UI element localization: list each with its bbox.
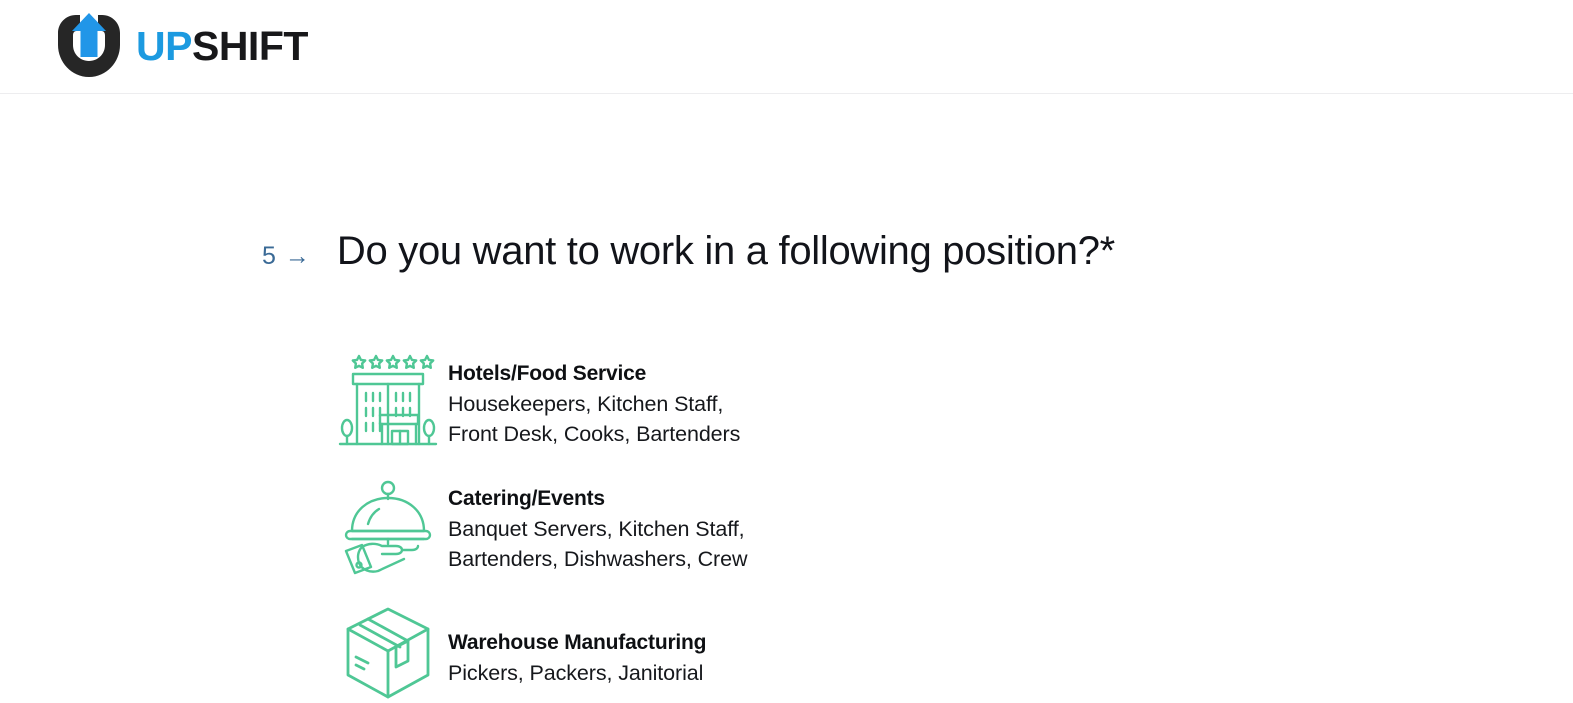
option-description-line: Housekeepers, Kitchen Staff, [448, 390, 740, 420]
form-body: 5 → Do you want to work in a following p… [0, 94, 1573, 669]
hotel-building-stars-icon [338, 352, 438, 454]
question-text: Do you want to work in a following posit… [337, 231, 1115, 271]
option-warehouse-manufacturing[interactable]: Warehouse Manufacturing Pickers, Packers… [338, 601, 747, 703]
brand-wordmark: UPSHIFT [136, 26, 308, 67]
question-number: 5 [262, 244, 276, 269]
option-description: Housekeepers, Kitchen Staff, Front Desk,… [448, 390, 740, 449]
upshift-up-arrow-logo-icon [52, 9, 126, 83]
serving-dome-hand-icon [338, 477, 438, 579]
position-options-list: Hotels/Food Service Housekeepers, Kitche… [338, 352, 747, 703]
option-text-block: Catering/Events Banquet Servers, Kitchen… [438, 477, 747, 575]
brand-wordmark-shift: SHIFT [192, 23, 308, 69]
option-description-line: Banquet Servers, Kitchen Staff, [448, 515, 747, 545]
brand-wordmark-up: UP [136, 23, 192, 69]
brand-logo[interactable]: UPSHIFT [52, 6, 308, 86]
option-title: Warehouse Manufacturing [448, 629, 706, 656]
site-header: UPSHIFT [0, 0, 1573, 94]
option-title: Catering/Events [448, 485, 747, 512]
option-description-line: Bartenders, Dishwashers, Crew [448, 545, 747, 575]
question-heading: 5 → Do you want to work in a following p… [262, 231, 1115, 271]
option-title: Hotels/Food Service [448, 360, 740, 387]
option-catering-events[interactable]: Catering/Events Banquet Servers, Kitchen… [338, 477, 747, 579]
option-description: Pickers, Packers, Janitorial [448, 659, 706, 689]
option-description: Banquet Servers, Kitchen Staff, Bartende… [448, 515, 747, 574]
option-text-block: Hotels/Food Service Housekeepers, Kitche… [438, 352, 740, 450]
arrow-right-icon: → [285, 244, 310, 269]
cardboard-box-package-icon [338, 601, 438, 703]
option-text-block: Warehouse Manufacturing Pickers, Packers… [438, 601, 706, 689]
option-hotels-food-service[interactable]: Hotels/Food Service Housekeepers, Kitche… [338, 352, 747, 454]
option-description-line: Front Desk, Cooks, Bartenders [448, 420, 740, 450]
option-description-line: Pickers, Packers, Janitorial [448, 659, 706, 689]
